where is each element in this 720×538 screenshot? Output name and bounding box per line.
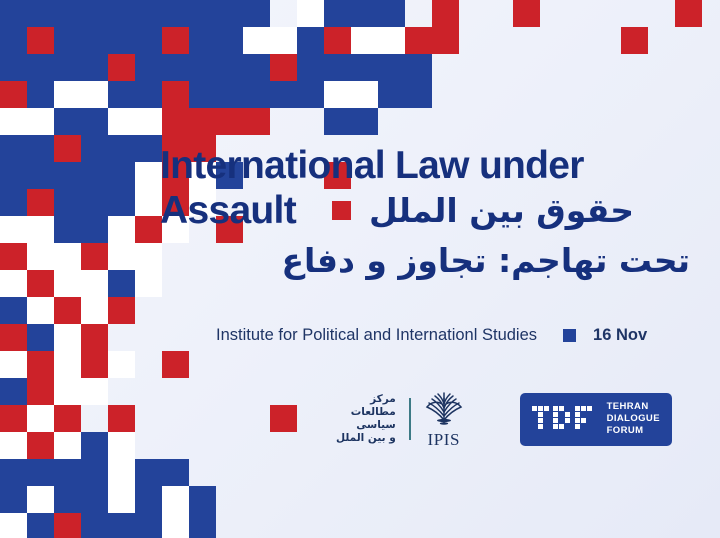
tdf-pixel-acronym-icon xyxy=(532,406,598,432)
ipis-acronym: IPIS xyxy=(427,430,460,450)
mosaic-cell xyxy=(324,0,351,27)
mosaic-cell xyxy=(135,81,162,108)
mosaic-cell xyxy=(0,108,27,135)
mosaic-cell xyxy=(81,324,108,351)
mosaic-cell xyxy=(27,378,54,405)
mosaic-cell xyxy=(27,189,54,216)
mosaic-cell xyxy=(81,270,108,297)
mosaic-cell xyxy=(27,513,54,538)
mosaic-cell xyxy=(108,243,135,270)
tdf-name-line1: TEHRAN xyxy=(607,401,660,413)
mosaic-cell xyxy=(54,486,81,513)
mosaic-cell xyxy=(351,27,378,54)
mosaic-cell xyxy=(0,486,27,513)
mosaic-cell xyxy=(0,27,27,54)
mosaic-cell xyxy=(81,135,108,162)
mosaic-cell xyxy=(54,216,81,243)
mosaic-cell xyxy=(270,81,297,108)
mosaic-cell xyxy=(81,243,108,270)
logo-row: مرکز مطالعات سیاسی و بین الملل xyxy=(336,386,672,452)
mosaic-cell xyxy=(405,54,432,81)
ipis-persian-name: مرکز مطالعات سیاسی و بین الملل xyxy=(336,393,398,446)
ipis-emblem-group: IPIS xyxy=(422,389,466,450)
mosaic-cell xyxy=(405,81,432,108)
mosaic-cell xyxy=(0,378,27,405)
mosaic-cell xyxy=(81,0,108,27)
mosaic-cell xyxy=(108,459,135,486)
mosaic-cell xyxy=(162,0,189,27)
mosaic-cell xyxy=(108,351,135,378)
mosaic-cell xyxy=(81,27,108,54)
mosaic-cell xyxy=(270,405,297,432)
mosaic-cell xyxy=(0,162,27,189)
mosaic-cell xyxy=(378,81,405,108)
mosaic-cell xyxy=(243,54,270,81)
mosaic-cell xyxy=(324,81,351,108)
mosaic-cell xyxy=(405,27,432,54)
mosaic-cell xyxy=(432,27,459,54)
mosaic-cell xyxy=(0,81,27,108)
mosaic-cell xyxy=(108,216,135,243)
mosaic-cell xyxy=(189,513,216,538)
headline-english-line2: Assault xyxy=(160,191,296,232)
mosaic-cell xyxy=(162,108,189,135)
mosaic-cell xyxy=(135,162,162,189)
mosaic-cell xyxy=(27,216,54,243)
mosaic-cell xyxy=(0,459,27,486)
mosaic-cell xyxy=(27,81,54,108)
mosaic-cell xyxy=(108,0,135,27)
mosaic-cell xyxy=(27,0,54,27)
mosaic-cell xyxy=(216,108,243,135)
mosaic-cell xyxy=(216,0,243,27)
mosaic-cell xyxy=(135,27,162,54)
mosaic-cell xyxy=(54,297,81,324)
mosaic-cell xyxy=(108,135,135,162)
ipis-persian-line4: و بین الملل xyxy=(336,432,396,445)
mosaic-cell xyxy=(270,27,297,54)
mosaic-cell xyxy=(0,135,27,162)
mosaic-cell xyxy=(27,270,54,297)
mosaic-cell xyxy=(54,324,81,351)
mosaic-cell xyxy=(108,108,135,135)
mosaic-cell xyxy=(135,216,162,243)
poster-canvas: International Law under Assault حقوق بین… xyxy=(0,0,720,538)
mosaic-cell xyxy=(27,108,54,135)
mosaic-cell xyxy=(0,216,27,243)
mosaic-cell xyxy=(135,54,162,81)
mosaic-cell xyxy=(243,0,270,27)
ipis-persian-line1: مرکز xyxy=(336,393,396,406)
headline-persian-line1: حقوق بین الملل xyxy=(369,194,634,228)
palm-fan-icon xyxy=(422,389,466,429)
headline-block: International Law under Assault حقوق بین… xyxy=(160,146,690,280)
ipis-persian-line3: سیاسی xyxy=(336,419,396,432)
mosaic-cell xyxy=(0,432,27,459)
mosaic-cell xyxy=(135,189,162,216)
mosaic-cell xyxy=(189,108,216,135)
mosaic-cell xyxy=(351,0,378,27)
mosaic-cell xyxy=(675,0,702,27)
mosaic-cell xyxy=(81,216,108,243)
mosaic-cell xyxy=(324,54,351,81)
mosaic-cell xyxy=(0,189,27,216)
tdf-logo-inner: TEHRAN DIALOGUE FORUM xyxy=(532,401,660,437)
mosaic-cell xyxy=(351,81,378,108)
mosaic-cell xyxy=(0,243,27,270)
mosaic-cell xyxy=(81,378,108,405)
mosaic-cell xyxy=(324,108,351,135)
mosaic-cell xyxy=(297,27,324,54)
mosaic-cell xyxy=(27,54,54,81)
mosaic-cell xyxy=(27,27,54,54)
mosaic-cell xyxy=(108,189,135,216)
mosaic-cell xyxy=(324,27,351,54)
mosaic-cell xyxy=(81,486,108,513)
red-square-separator-icon xyxy=(332,201,351,220)
mosaic-cell xyxy=(378,0,405,27)
mosaic-cell xyxy=(54,108,81,135)
mosaic-cell xyxy=(189,0,216,27)
mosaic-cell xyxy=(162,81,189,108)
mosaic-cell xyxy=(81,432,108,459)
mosaic-cell xyxy=(108,432,135,459)
mosaic-cell xyxy=(27,459,54,486)
mosaic-cell xyxy=(27,135,54,162)
headline-english-line1: International Law under xyxy=(160,146,690,187)
mosaic-cell xyxy=(351,54,378,81)
mosaic-cell xyxy=(108,270,135,297)
mosaic-cell xyxy=(135,459,162,486)
mosaic-cell xyxy=(0,270,27,297)
mosaic-cell xyxy=(189,54,216,81)
mosaic-cell xyxy=(81,189,108,216)
mosaic-cell xyxy=(54,27,81,54)
mosaic-cell xyxy=(243,81,270,108)
subtitle-row: Institute for Political and Internationl… xyxy=(216,326,647,345)
mosaic-cell xyxy=(81,162,108,189)
mosaic-cell xyxy=(54,513,81,538)
mosaic-cell xyxy=(189,486,216,513)
mosaic-cell xyxy=(162,459,189,486)
mosaic-cell xyxy=(54,81,81,108)
mosaic-cell xyxy=(135,135,162,162)
mosaic-cell xyxy=(216,27,243,54)
mosaic-cell xyxy=(27,351,54,378)
mosaic-cell xyxy=(81,297,108,324)
mosaic-cell xyxy=(135,243,162,270)
mosaic-cell xyxy=(81,108,108,135)
mosaic-cell xyxy=(54,459,81,486)
mosaic-cell xyxy=(54,54,81,81)
mosaic-cell xyxy=(27,486,54,513)
mosaic-cell xyxy=(162,486,189,513)
mosaic-cell xyxy=(432,0,459,27)
mosaic-cell xyxy=(216,54,243,81)
mosaic-cell xyxy=(27,432,54,459)
mosaic-cell xyxy=(270,54,297,81)
mosaic-cell xyxy=(27,243,54,270)
mosaic-cell xyxy=(108,405,135,432)
mosaic-cell xyxy=(54,0,81,27)
mosaic-cell xyxy=(135,270,162,297)
mosaic-cell xyxy=(108,162,135,189)
mosaic-cell xyxy=(0,405,27,432)
ipis-divider xyxy=(409,398,411,440)
mosaic-cell xyxy=(0,297,27,324)
mosaic-cell xyxy=(108,54,135,81)
subtitle-date: 16 Nov xyxy=(593,326,647,345)
mosaic-cell xyxy=(135,108,162,135)
mosaic-cell xyxy=(243,108,270,135)
headline-line2-row: Assault حقوق بین الملل xyxy=(160,191,690,232)
mosaic-cell xyxy=(513,0,540,27)
mosaic-cell xyxy=(81,513,108,538)
tdf-name-line2: DIALOGUE xyxy=(607,413,660,425)
mosaic-cell xyxy=(0,513,27,538)
mosaic-cell xyxy=(297,0,324,27)
mosaic-cell xyxy=(54,270,81,297)
mosaic-cell xyxy=(378,27,405,54)
blue-square-separator-icon xyxy=(563,329,576,342)
mosaic-cell xyxy=(81,54,108,81)
mosaic-cell xyxy=(351,108,378,135)
mosaic-cell xyxy=(162,27,189,54)
mosaic-cell xyxy=(162,54,189,81)
mosaic-cell xyxy=(54,135,81,162)
tdf-full-name: TEHRAN DIALOGUE FORUM xyxy=(607,401,660,437)
mosaic-cell xyxy=(54,378,81,405)
mosaic-cell xyxy=(135,486,162,513)
subtitle-organization: Institute for Political and Internationl… xyxy=(216,326,537,345)
mosaic-cell xyxy=(54,432,81,459)
mosaic-cell xyxy=(81,81,108,108)
mosaic-cell xyxy=(0,351,27,378)
ipis-logo: مرکز مطالعات سیاسی و بین الملل xyxy=(336,386,466,452)
mosaic-cell xyxy=(135,0,162,27)
mosaic-cell xyxy=(54,162,81,189)
mosaic-cell xyxy=(108,486,135,513)
mosaic-cell xyxy=(108,81,135,108)
mosaic-cell xyxy=(27,297,54,324)
mosaic-cell xyxy=(162,513,189,538)
mosaic-cell xyxy=(27,324,54,351)
mosaic-cell xyxy=(297,54,324,81)
mosaic-cell xyxy=(54,243,81,270)
mosaic-cell xyxy=(621,27,648,54)
mosaic-cell xyxy=(0,324,27,351)
mosaic-cell xyxy=(54,189,81,216)
mosaic-cell xyxy=(189,27,216,54)
mosaic-cell xyxy=(0,0,27,27)
headline-persian-line2: تحت تهاجم: تجاوز و دفاع xyxy=(160,241,690,280)
mosaic-cell xyxy=(297,81,324,108)
mosaic-cell xyxy=(243,27,270,54)
mosaic-cell xyxy=(108,297,135,324)
mosaic-cell xyxy=(27,405,54,432)
mosaic-cell xyxy=(54,351,81,378)
mosaic-cell xyxy=(108,27,135,54)
mosaic-cell xyxy=(81,459,108,486)
mosaic-cell xyxy=(216,81,243,108)
tdf-name-line3: FORUM xyxy=(607,425,660,437)
tdf-logo: TEHRAN DIALOGUE FORUM xyxy=(520,393,672,446)
mosaic-cell xyxy=(0,54,27,81)
mosaic-cell xyxy=(27,162,54,189)
ipis-persian-line2: مطالعات xyxy=(336,406,396,419)
mosaic-cell xyxy=(378,54,405,81)
mosaic-cell xyxy=(162,351,189,378)
mosaic-cell xyxy=(189,81,216,108)
mosaic-cell xyxy=(81,351,108,378)
mosaic-cell xyxy=(108,513,135,538)
mosaic-cell xyxy=(54,405,81,432)
mosaic-cell xyxy=(135,513,162,538)
